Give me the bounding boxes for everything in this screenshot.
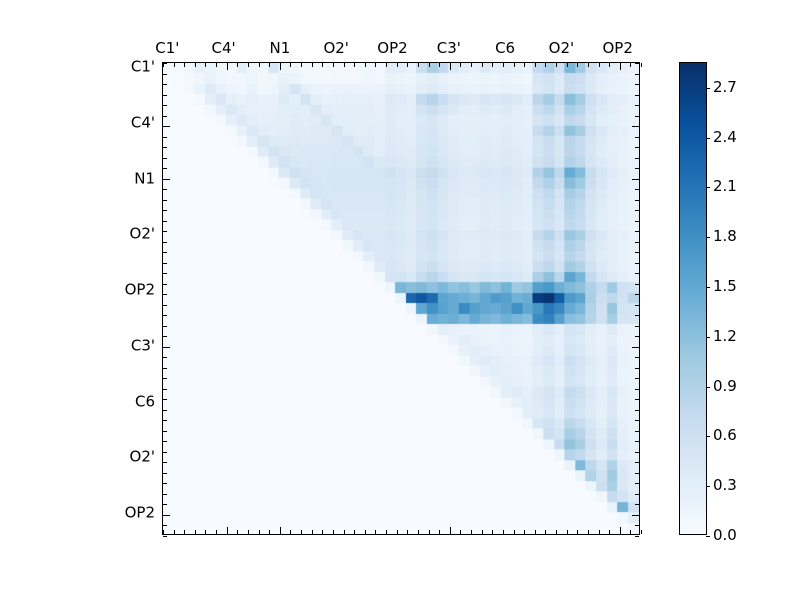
y-tick xyxy=(163,126,170,127)
y-tick xyxy=(635,315,639,316)
y-tick xyxy=(635,536,639,537)
x-tick xyxy=(216,63,217,67)
x-tick xyxy=(609,530,610,534)
y-tick xyxy=(163,116,167,117)
y-tick xyxy=(635,336,639,337)
x-tick xyxy=(439,63,440,67)
y-tick xyxy=(163,525,167,526)
y-tick-label-8: OP2 xyxy=(125,505,155,520)
x-tick xyxy=(609,63,610,67)
figure-canvas: C1'C4'N1O2'OP2C3'C6O2'OP2 C1'C4'N1O2'OP2… xyxy=(0,0,800,600)
x-tick xyxy=(630,530,631,534)
y-tick xyxy=(163,420,167,421)
x-tick xyxy=(322,530,323,534)
x-tick xyxy=(184,63,185,67)
y-tick xyxy=(635,242,639,243)
y-tick xyxy=(163,95,167,96)
y-tick-label-1: C4' xyxy=(131,115,155,130)
y-tick-label-2: N1 xyxy=(134,171,155,186)
x-tick xyxy=(195,530,196,534)
y-tick xyxy=(163,504,167,505)
x-tick xyxy=(524,530,525,534)
x-tick xyxy=(545,63,546,67)
x-tick xyxy=(620,63,621,70)
y-tick xyxy=(635,410,639,411)
y-tick xyxy=(163,263,167,264)
y-tick xyxy=(163,336,167,337)
y-tick xyxy=(635,189,639,190)
y-tick xyxy=(635,168,639,169)
y-tick xyxy=(632,347,639,348)
x-tick xyxy=(269,530,270,534)
y-tick xyxy=(163,158,167,159)
y-tick xyxy=(635,326,639,327)
x-tick-label-6: C6 xyxy=(495,41,515,56)
y-tick xyxy=(632,179,639,180)
y-tick xyxy=(163,410,167,411)
x-tick xyxy=(620,527,621,534)
colorbar-tick xyxy=(706,88,710,89)
x-tick xyxy=(269,63,270,67)
y-tick-label-4: OP2 xyxy=(125,283,155,298)
x-tick xyxy=(333,530,334,534)
y-tick xyxy=(635,494,639,495)
x-tick-label-2: N1 xyxy=(270,41,291,56)
colorbar-tick xyxy=(706,436,710,437)
y-tick xyxy=(163,63,167,64)
x-tick xyxy=(333,63,334,67)
y-tick xyxy=(163,378,167,379)
y-tick xyxy=(635,74,639,75)
x-tick xyxy=(354,530,355,534)
y-tick xyxy=(635,95,639,96)
colorbar-tick xyxy=(706,486,710,487)
x-tick xyxy=(471,530,472,534)
y-tick xyxy=(635,221,639,222)
y-tick xyxy=(163,494,167,495)
y-tick xyxy=(635,84,639,85)
colorbar-label-7: 2.1 xyxy=(713,177,737,195)
x-tick xyxy=(365,530,366,534)
y-tick xyxy=(163,357,167,358)
y-tick xyxy=(635,357,639,358)
y-tick-label-3: O2' xyxy=(130,227,155,242)
colorbar-tick xyxy=(706,387,710,388)
y-tick xyxy=(635,504,639,505)
x-tick xyxy=(174,63,175,67)
x-tick xyxy=(290,530,291,534)
heatmap-image xyxy=(163,63,639,534)
x-tick xyxy=(535,530,536,534)
x-tick xyxy=(290,63,291,67)
colorbar-tick xyxy=(706,337,710,338)
y-tick xyxy=(632,515,639,516)
y-tick xyxy=(635,158,639,159)
y-tick xyxy=(635,263,639,264)
colorbar-label-2: 0.6 xyxy=(713,426,737,444)
y-tick xyxy=(163,431,167,432)
y-tick xyxy=(635,483,639,484)
colorbar-label-1: 0.3 xyxy=(713,476,737,494)
y-tick xyxy=(163,536,167,537)
x-tick xyxy=(227,527,228,534)
x-tick xyxy=(354,63,355,67)
x-tick xyxy=(503,530,504,534)
y-tick-label-5: C3' xyxy=(131,338,155,353)
x-tick xyxy=(344,63,345,67)
y-tick xyxy=(163,326,167,327)
y-tick xyxy=(635,284,639,285)
x-tick xyxy=(344,530,345,534)
y-tick xyxy=(635,200,639,201)
y-tick xyxy=(635,431,639,432)
x-tick-label-7: O2' xyxy=(549,41,574,56)
x-tick xyxy=(503,63,504,67)
x-tick xyxy=(375,63,376,67)
x-tick xyxy=(237,63,238,67)
y-tick xyxy=(163,441,167,442)
x-tick xyxy=(407,530,408,534)
colorbar-tick xyxy=(706,187,710,188)
x-tick xyxy=(450,527,451,534)
colorbar-tick xyxy=(706,237,710,238)
y-tick xyxy=(163,179,170,180)
y-tick xyxy=(163,452,167,453)
x-tick xyxy=(471,63,472,67)
y-tick xyxy=(635,273,639,274)
y-tick xyxy=(163,221,167,222)
y-tick xyxy=(635,389,639,390)
y-tick xyxy=(163,252,167,253)
x-tick xyxy=(556,63,557,67)
colorbar-label-6: 1.8 xyxy=(713,227,737,245)
y-tick xyxy=(635,305,639,306)
x-tick xyxy=(429,530,430,534)
x-tick xyxy=(216,530,217,534)
x-tick xyxy=(322,63,323,67)
y-tick xyxy=(163,315,167,316)
x-tick xyxy=(301,63,302,67)
colorbar-label-8: 2.4 xyxy=(713,128,737,146)
y-tick xyxy=(163,305,167,306)
x-tick-label-4: OP2 xyxy=(377,41,407,56)
x-tick xyxy=(248,63,249,67)
y-tick xyxy=(163,368,167,369)
colorbar-tick xyxy=(706,138,710,139)
x-tick xyxy=(407,63,408,67)
y-tick xyxy=(163,137,167,138)
y-tick xyxy=(163,168,167,169)
x-tick xyxy=(641,530,642,534)
y-tick xyxy=(163,399,167,400)
y-tick xyxy=(635,105,639,106)
y-tick xyxy=(163,210,167,211)
x-tick xyxy=(641,63,642,67)
y-tick xyxy=(163,473,167,474)
x-tick xyxy=(195,63,196,67)
x-tick xyxy=(524,63,525,67)
x-tick xyxy=(545,530,546,534)
x-tick xyxy=(301,530,302,534)
colorbar-label-3: 0.9 xyxy=(713,377,737,395)
y-tick xyxy=(635,452,639,453)
y-tick xyxy=(635,231,639,232)
x-tick-label-3: O2' xyxy=(323,41,348,56)
colorbar-tick xyxy=(706,536,710,537)
x-tick xyxy=(492,63,493,67)
y-tick xyxy=(163,347,170,348)
x-tick xyxy=(365,63,366,67)
y-tick xyxy=(635,441,639,442)
x-tick xyxy=(184,530,185,534)
y-tick xyxy=(163,74,167,75)
x-tick xyxy=(567,530,568,534)
y-tick xyxy=(163,389,167,390)
y-tick xyxy=(635,252,639,253)
y-tick xyxy=(635,462,639,463)
y-tick-label-7: O2' xyxy=(130,450,155,465)
x-tick xyxy=(599,63,600,67)
x-tick xyxy=(577,530,578,534)
x-tick xyxy=(418,63,419,67)
x-tick xyxy=(450,63,451,70)
x-tick xyxy=(535,63,536,67)
x-tick xyxy=(386,63,387,67)
x-tick xyxy=(280,63,281,70)
y-tick xyxy=(163,273,167,274)
y-tick xyxy=(635,399,639,400)
colorbar-label-9: 2.7 xyxy=(713,78,737,96)
x-tick xyxy=(556,530,557,534)
x-tick xyxy=(418,530,419,534)
colorbar-gradient xyxy=(680,63,706,534)
x-tick xyxy=(397,63,398,67)
x-tick xyxy=(375,530,376,534)
x-tick xyxy=(439,530,440,534)
y-tick xyxy=(635,525,639,526)
x-tick xyxy=(514,63,515,67)
x-tick xyxy=(174,530,175,534)
x-tick-label-1: C4' xyxy=(212,41,236,56)
colorbar-label-0: 0.0 xyxy=(713,526,737,544)
x-tick xyxy=(397,530,398,534)
y-tick-label-6: C6 xyxy=(135,394,155,409)
x-tick xyxy=(588,530,589,534)
y-tick xyxy=(635,294,639,295)
y-tick xyxy=(163,189,167,190)
y-tick xyxy=(635,420,639,421)
x-tick xyxy=(460,63,461,67)
x-tick xyxy=(482,530,483,534)
x-tick-label-0: C1' xyxy=(155,41,179,56)
y-tick xyxy=(163,515,170,516)
heatmap-axes[interactable] xyxy=(162,62,640,535)
x-tick xyxy=(482,63,483,67)
colorbar-tick xyxy=(706,287,710,288)
y-tick xyxy=(632,126,639,127)
y-tick xyxy=(163,105,167,106)
x-tick xyxy=(259,530,260,534)
y-tick xyxy=(635,378,639,379)
x-tick xyxy=(248,530,249,534)
colorbar-axes[interactable] xyxy=(679,62,707,535)
x-tick xyxy=(429,63,430,67)
y-tick xyxy=(635,210,639,211)
y-tick xyxy=(635,137,639,138)
y-tick xyxy=(163,242,167,243)
y-tick xyxy=(163,284,167,285)
x-tick xyxy=(259,63,260,67)
x-tick xyxy=(205,530,206,534)
x-tick xyxy=(630,63,631,67)
x-tick xyxy=(227,63,228,70)
x-tick xyxy=(163,530,164,534)
x-tick xyxy=(599,530,600,534)
x-tick xyxy=(577,63,578,67)
y-tick xyxy=(163,231,167,232)
y-tick xyxy=(163,294,167,295)
x-tick xyxy=(205,63,206,67)
y-tick xyxy=(635,368,639,369)
x-tick-label-8: OP2 xyxy=(602,41,632,56)
x-tick xyxy=(567,63,568,67)
x-tick xyxy=(514,530,515,534)
x-tick xyxy=(312,530,313,534)
x-tick xyxy=(492,530,493,534)
y-tick xyxy=(635,63,639,64)
y-tick xyxy=(163,483,167,484)
y-tick xyxy=(635,473,639,474)
x-tick-label-5: C3' xyxy=(437,41,461,56)
x-tick xyxy=(386,530,387,534)
y-tick xyxy=(163,462,167,463)
y-tick-label-0: C1' xyxy=(131,60,155,75)
x-tick xyxy=(237,530,238,534)
y-tick xyxy=(163,84,167,85)
colorbar-label-4: 1.2 xyxy=(713,327,737,345)
x-tick xyxy=(280,527,281,534)
y-tick xyxy=(163,200,167,201)
colorbar-label-5: 1.5 xyxy=(713,277,737,295)
x-tick xyxy=(588,63,589,67)
y-tick xyxy=(635,116,639,117)
x-tick xyxy=(312,63,313,67)
x-tick xyxy=(460,530,461,534)
y-tick xyxy=(163,147,167,148)
y-tick xyxy=(635,147,639,148)
